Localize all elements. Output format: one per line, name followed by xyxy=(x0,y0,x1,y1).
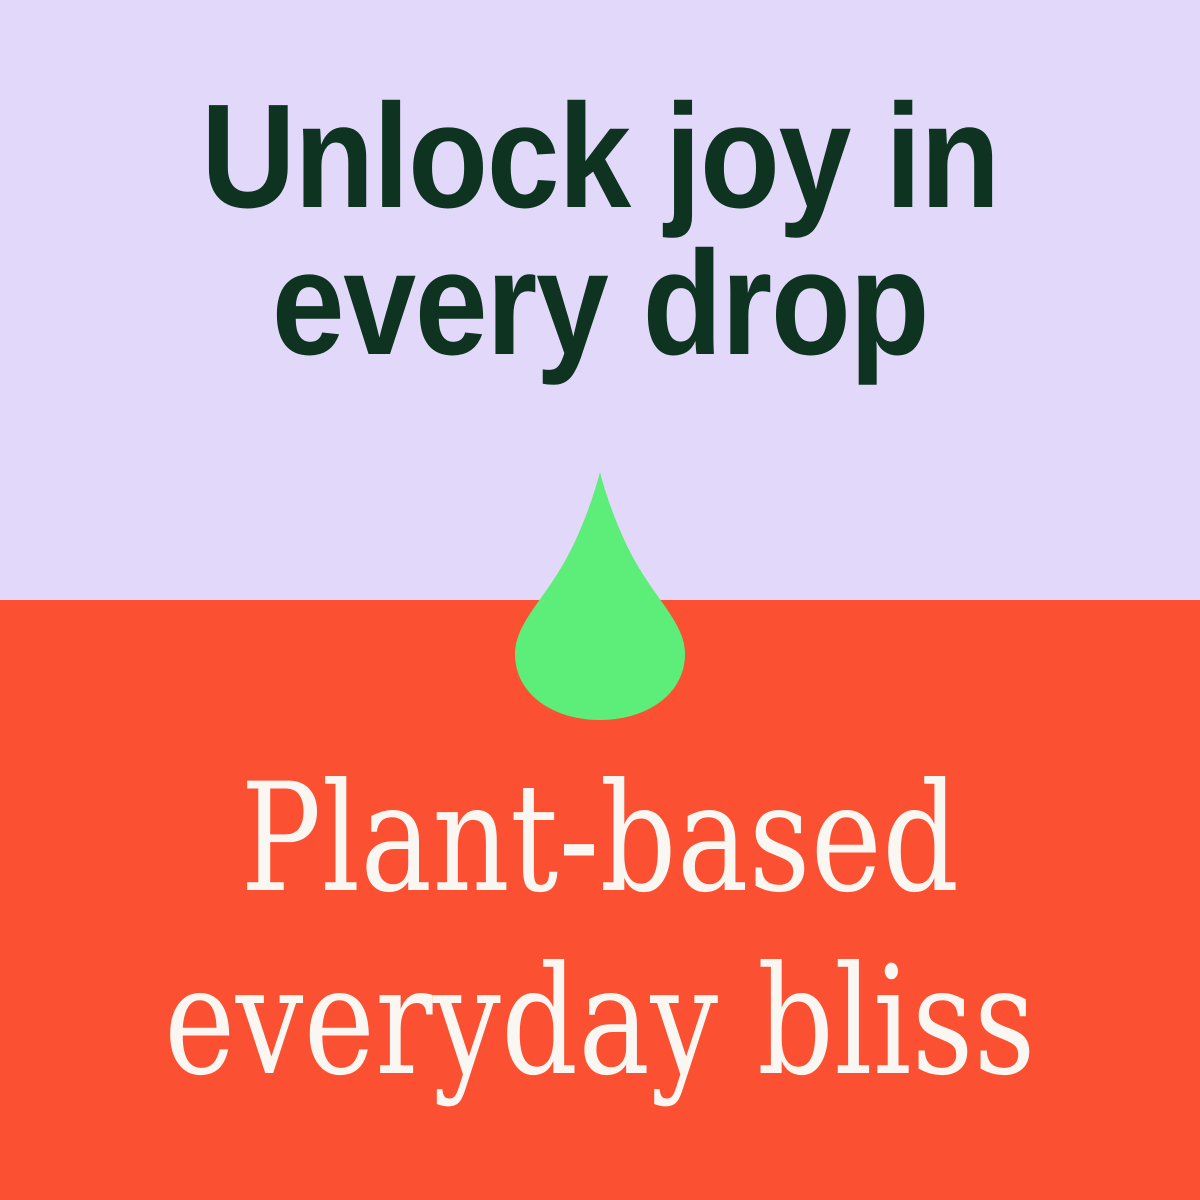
subline: Plant-based everyday bliss xyxy=(0,748,1200,1114)
water-droplet-icon xyxy=(510,468,690,724)
subline-line-2: everyday bliss xyxy=(120,931,1080,1114)
subline-line-1: Plant-based xyxy=(120,748,1080,931)
headline-line-1: Unlock joy in xyxy=(69,84,1131,231)
promo-card: Unlock joy in every drop Plant-based eve… xyxy=(0,0,1200,1200)
headline: Unlock joy in every drop xyxy=(0,0,1200,470)
headline-line-2: every drop xyxy=(69,231,1131,378)
water-droplet-shape xyxy=(510,468,690,724)
